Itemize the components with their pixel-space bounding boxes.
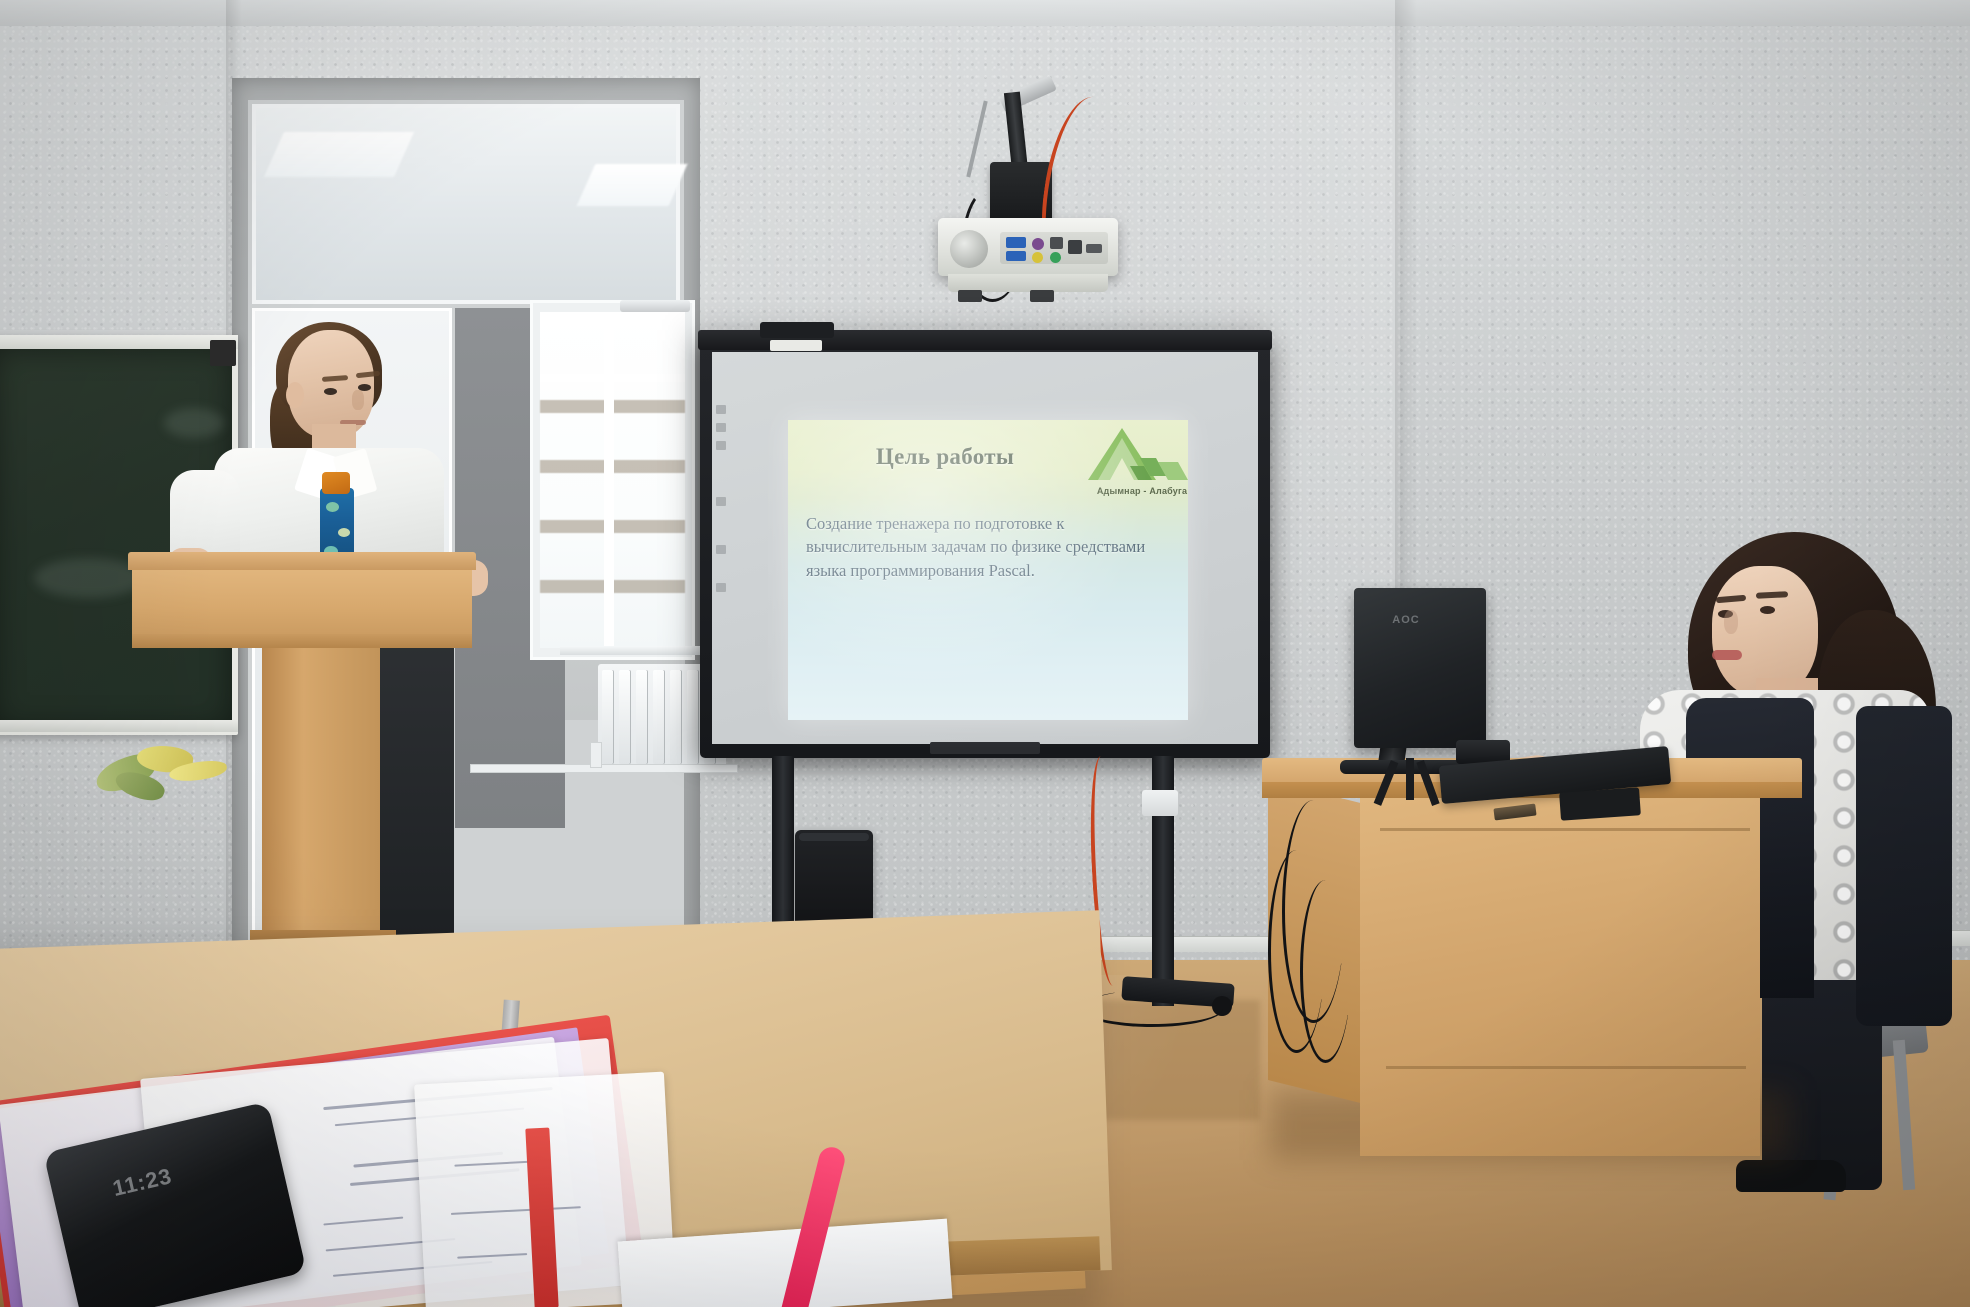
window-handle[interactable] bbox=[620, 300, 690, 312]
whiteboard-sensor-block bbox=[760, 322, 834, 338]
ceiling-edge bbox=[0, 0, 1970, 26]
classroom-photo: Цель работы Создание тренажера по подгот… bbox=[0, 0, 1970, 1307]
presenter-tie-knot bbox=[322, 472, 350, 494]
podium-top[interactable] bbox=[128, 552, 476, 570]
radiator-valve bbox=[590, 742, 602, 768]
whiteboard-marker[interactable] bbox=[770, 340, 822, 351]
teacher-lips bbox=[1712, 650, 1742, 660]
chalkboard-corner-bracket bbox=[210, 340, 236, 366]
whiteboard-side-buttons[interactable] bbox=[716, 405, 728, 605]
teacher-nose bbox=[1724, 610, 1738, 634]
mouse-pad[interactable] bbox=[1559, 787, 1641, 821]
presenter-eye-left bbox=[324, 388, 337, 395]
transom-window bbox=[252, 104, 680, 304]
slide-title: Цель работы bbox=[810, 444, 1080, 470]
podium-column bbox=[262, 644, 380, 944]
projector-foot-right bbox=[1030, 290, 1054, 302]
projector-foot-left bbox=[958, 290, 982, 302]
logo-triangle-icon bbox=[1082, 424, 1202, 488]
tripod-leg-center bbox=[1406, 758, 1414, 800]
monitor-brand-label: AOC bbox=[1386, 614, 1426, 626]
presenter-legs bbox=[380, 640, 454, 960]
whiteboard-pen-tray bbox=[930, 742, 1040, 754]
teacher-eye-right bbox=[1760, 606, 1775, 614]
presenter-ear bbox=[286, 382, 304, 408]
desk-cable-3 bbox=[1300, 880, 1351, 1063]
desk-groove-top bbox=[1380, 828, 1750, 831]
window-glass bbox=[540, 312, 685, 648]
slide-body-text: Создание тренажера по подготовке к вычис… bbox=[806, 512, 1178, 582]
teacher-shoe bbox=[1736, 1160, 1846, 1192]
radiator-pipe bbox=[470, 764, 738, 773]
monitor[interactable] bbox=[1354, 588, 1486, 748]
flower-decoration bbox=[95, 740, 235, 810]
desk-groove-bottom bbox=[1386, 1066, 1746, 1069]
teacher-vest-right bbox=[1856, 706, 1952, 1026]
desk-front-panel bbox=[1360, 796, 1760, 1156]
school-logo: Адымнар - Алабуга bbox=[1082, 424, 1202, 504]
school-logo-caption: Адымнар - Алабуга bbox=[1082, 486, 1202, 496]
podium-front bbox=[132, 562, 472, 640]
wall-socket[interactable] bbox=[1142, 790, 1178, 816]
phone-clock: 11:23 bbox=[110, 1163, 174, 1202]
presenter-nose bbox=[352, 390, 364, 410]
projector-lens bbox=[950, 230, 988, 268]
podium-edge bbox=[132, 634, 472, 648]
projector-ports bbox=[1000, 232, 1108, 264]
chalkboard-ledge bbox=[0, 720, 238, 732]
chalkboard-top-rail bbox=[0, 335, 238, 349]
